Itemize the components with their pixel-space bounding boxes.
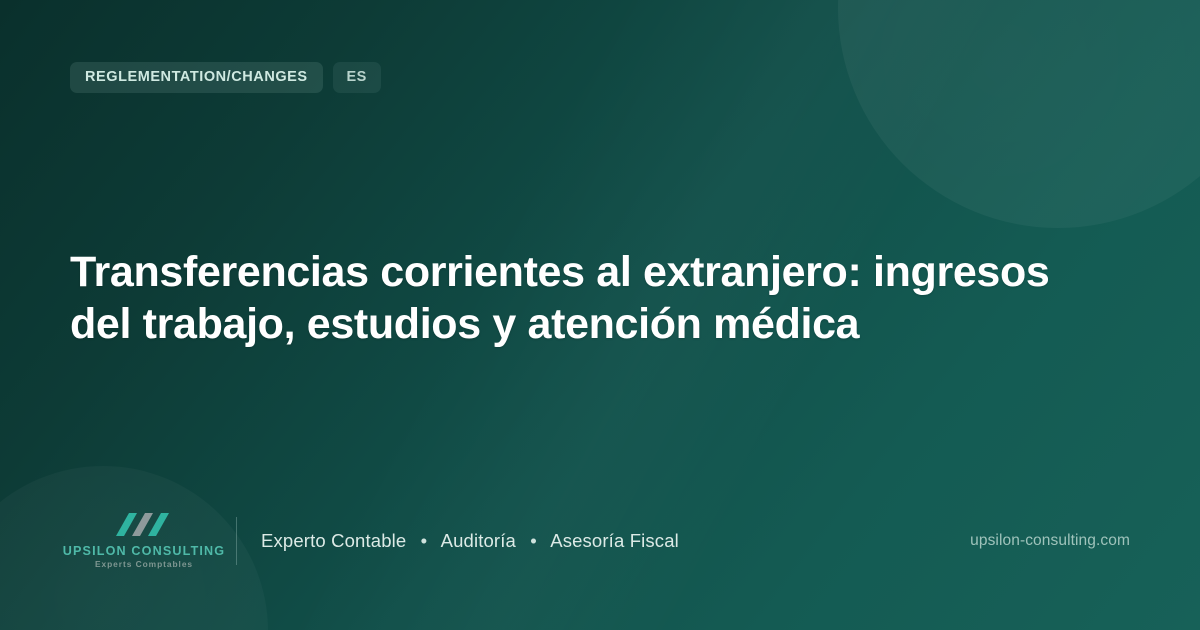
service-item-1: Auditoría bbox=[441, 530, 516, 551]
page-title: Transferencias corrientes al extranjero:… bbox=[70, 246, 1100, 350]
website-url[interactable]: upsilon-consulting.com bbox=[970, 532, 1130, 550]
brand-name: UPSILON CONSULTING bbox=[63, 544, 226, 558]
tagline-separator-icon: • bbox=[421, 530, 428, 552]
footer: UPSILON CONSULTING Experts Comptables Ex… bbox=[70, 510, 1130, 572]
brand-subtitle: Experts Comptables bbox=[95, 559, 193, 571]
badge-row: REGLEMENTATION/CHANGES ES bbox=[70, 62, 381, 93]
brand-logo[interactable]: UPSILON CONSULTING Experts Comptables bbox=[70, 511, 218, 570]
tagline-separator-icon: • bbox=[530, 530, 537, 552]
service-item-2: Asesoría Fiscal bbox=[550, 530, 679, 551]
language-badge[interactable]: ES bbox=[333, 62, 381, 93]
service-item-0: Experto Contable bbox=[261, 530, 406, 551]
services-tagline: Experto Contable • Auditoría • Asesoría … bbox=[261, 530, 679, 552]
decorative-circle-top-right bbox=[838, 0, 1200, 228]
upsilon-slashes-icon bbox=[112, 511, 176, 542]
footer-divider bbox=[236, 517, 237, 565]
category-badge[interactable]: REGLEMENTATION/CHANGES bbox=[70, 62, 323, 93]
social-share-card: REGLEMENTATION/CHANGES ES Transferencias… bbox=[0, 0, 1200, 630]
